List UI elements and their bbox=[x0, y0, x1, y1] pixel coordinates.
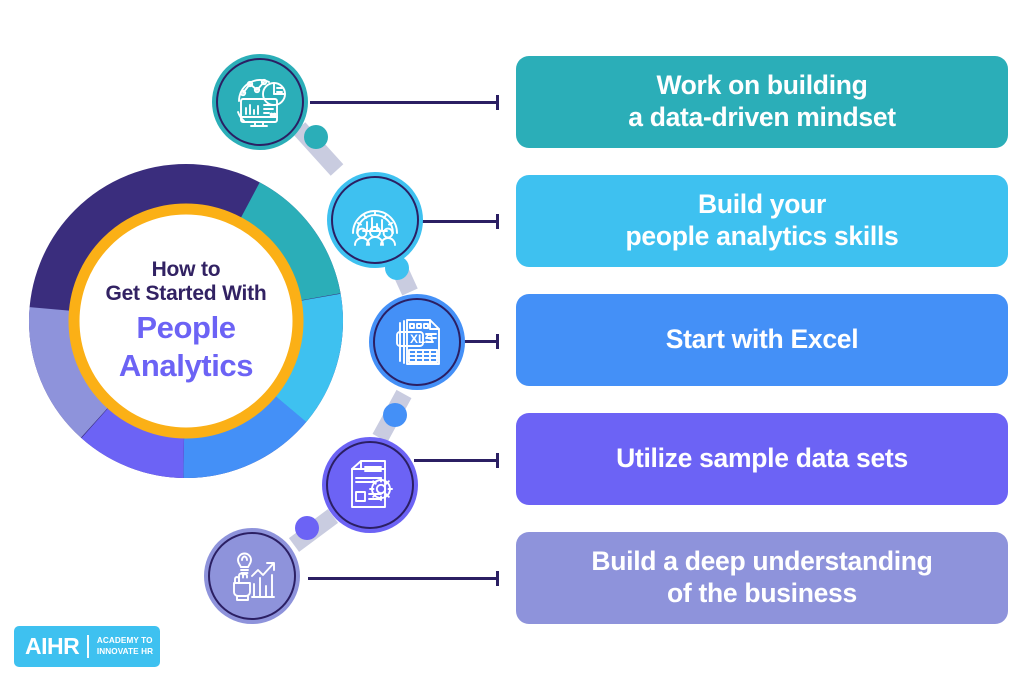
people-analytics-icon bbox=[344, 189, 406, 251]
step-box-4-text: Utilize sample data sets bbox=[616, 443, 908, 475]
document-gear-icon bbox=[339, 454, 401, 516]
step-box-1-text: Work on building a data-driven mindset bbox=[628, 70, 896, 134]
title-highlight-1: People bbox=[136, 311, 235, 346]
step-box-3[interactable]: Start with Excel bbox=[516, 294, 1008, 386]
idea-growth-chart-icon bbox=[221, 545, 283, 607]
connector-cap-4 bbox=[496, 453, 499, 468]
connector-cap-2 bbox=[496, 214, 499, 229]
xls-spreadsheet-icon: XLS bbox=[386, 311, 448, 373]
xls-badge-text: XLS bbox=[410, 332, 433, 346]
step-box-5-text: Build a deep understanding of the busine… bbox=[591, 546, 932, 610]
connector-cap-5 bbox=[496, 571, 499, 586]
connector-cap-1 bbox=[496, 95, 499, 110]
dashboard-analytics-icon bbox=[229, 71, 291, 133]
connector-line-4 bbox=[414, 459, 498, 462]
logo-wordmark: AIHR bbox=[25, 635, 79, 658]
path-dot-1 bbox=[304, 125, 328, 149]
infographic-canvas: How to Get Started With People Analytics bbox=[0, 0, 1024, 680]
logo-divider bbox=[87, 635, 89, 658]
step-box-1[interactable]: Work on building a data-driven mindset bbox=[516, 56, 1008, 148]
step-icon-2[interactable] bbox=[327, 172, 423, 268]
step-box-3-line1: Start with Excel bbox=[666, 324, 859, 356]
step-box-4[interactable]: Utilize sample data sets bbox=[516, 413, 1008, 505]
step-box-2-line2: people analytics skills bbox=[626, 221, 899, 253]
logo-tagline-line2: INNOVATE HR bbox=[97, 647, 153, 656]
step-box-2-line1: Build your bbox=[626, 189, 899, 221]
connector-cap-3 bbox=[496, 334, 499, 349]
connector-line-2 bbox=[420, 220, 498, 223]
step-icon-1[interactable] bbox=[212, 54, 308, 150]
path-dot-3 bbox=[383, 403, 407, 427]
step-box-2-text: Build your people analytics skills bbox=[626, 189, 899, 253]
connector-line-3 bbox=[463, 340, 498, 343]
step-box-5-line1: Build a deep understanding bbox=[591, 546, 932, 578]
step-icon-5[interactable] bbox=[204, 528, 300, 624]
logo-tagline: ACADEMY TO INNOVATE HR bbox=[97, 636, 153, 657]
step-box-2[interactable]: Build your people analytics skills bbox=[516, 175, 1008, 267]
step-box-4-line1: Utilize sample data sets bbox=[616, 443, 908, 475]
step-box-5[interactable]: Build a deep understanding of the busine… bbox=[516, 532, 1008, 624]
donut-chart: How to Get Started With People Analytics bbox=[28, 163, 344, 479]
title-line-2: Get Started With bbox=[105, 282, 266, 306]
step-box-1-line1: Work on building bbox=[628, 70, 896, 102]
step-box-1-line2: a data-driven mindset bbox=[628, 102, 896, 134]
step-box-3-text: Start with Excel bbox=[666, 324, 859, 356]
title-line-1: How to bbox=[152, 258, 221, 282]
path-dot-4 bbox=[295, 516, 319, 540]
aihr-logo[interactable]: AIHR ACADEMY TO INNOVATE HR bbox=[14, 626, 160, 667]
connector-line-1 bbox=[310, 101, 498, 104]
title-highlight-2: Analytics bbox=[119, 349, 253, 384]
connector-line-5 bbox=[308, 577, 498, 580]
step-box-5-line2: of the business bbox=[591, 578, 932, 610]
logo-tagline-line1: ACADEMY TO bbox=[97, 636, 153, 645]
step-icon-3[interactable]: XLS bbox=[369, 294, 465, 390]
donut-center-label: How to Get Started With People Analytics bbox=[80, 215, 292, 427]
step-icon-4[interactable] bbox=[322, 437, 418, 533]
